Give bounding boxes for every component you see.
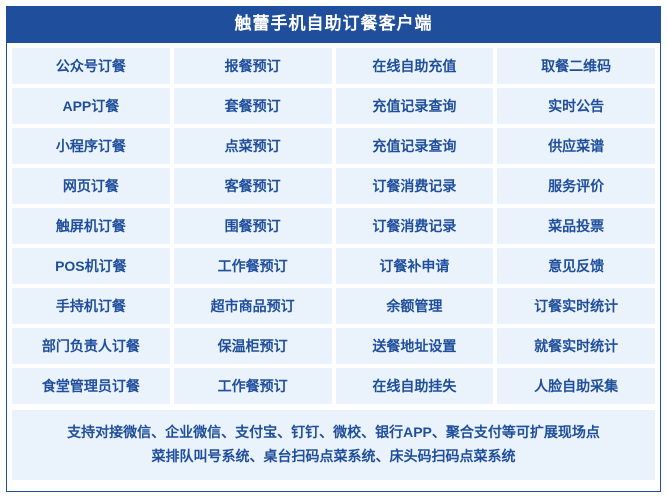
- feature-cell[interactable]: 触屏机订餐: [12, 208, 170, 244]
- feature-cell[interactable]: 部门负责人订餐: [12, 328, 170, 364]
- feature-cell[interactable]: 服务评价: [497, 168, 655, 204]
- feature-cell[interactable]: 食堂管理员订餐: [12, 368, 170, 404]
- feature-cell[interactable]: 保温柜预订: [174, 328, 332, 364]
- feature-cell[interactable]: 报餐预订: [174, 48, 332, 84]
- feature-cell[interactable]: 订餐补申请: [336, 248, 494, 284]
- page-title: 触蕾手机自助订餐客户端: [7, 7, 660, 43]
- feature-cell[interactable]: 手持机订餐: [12, 288, 170, 324]
- feature-cell[interactable]: 超市商品预订: [174, 288, 332, 324]
- feature-cell[interactable]: 意见反馈: [497, 248, 655, 284]
- feature-cell[interactable]: 在线自助充值: [336, 48, 494, 84]
- feature-cell[interactable]: APP订餐: [12, 88, 170, 124]
- feature-cell[interactable]: 订餐消费记录: [336, 168, 494, 204]
- feature-cell[interactable]: 人脸自助采集: [497, 368, 655, 404]
- feature-cell[interactable]: 订餐消费记录: [336, 208, 494, 244]
- feature-cell[interactable]: 公众号订餐: [12, 48, 170, 84]
- feature-cell[interactable]: POS机订餐: [12, 248, 170, 284]
- footer-note-line2: 菜排队叫号系统、桌台扫码点菜系统、床头码扫码点菜系统: [26, 444, 641, 468]
- feature-cell[interactable]: 客餐预订: [174, 168, 332, 204]
- feature-cell[interactable]: 工作餐预订: [174, 248, 332, 284]
- feature-grid: 公众号订餐 报餐预订 在线自助充值 取餐二维码 APP订餐 套餐预订 充值记录查…: [7, 43, 660, 409]
- feature-cell[interactable]: 实时公告: [497, 88, 655, 124]
- feature-cell[interactable]: 套餐预订: [174, 88, 332, 124]
- feature-cell[interactable]: 充值记录查询: [336, 88, 494, 124]
- feature-cell[interactable]: 工作餐预订: [174, 368, 332, 404]
- feature-cell[interactable]: 围餐预订: [174, 208, 332, 244]
- client-feature-panel: 触蕾手机自助订餐客户端 公众号订餐 报餐预订 在线自助充值 取餐二维码 APP订…: [6, 6, 661, 492]
- feature-cell[interactable]: 点菜预订: [174, 128, 332, 164]
- feature-cell[interactable]: 余额管理: [336, 288, 494, 324]
- feature-cell[interactable]: 就餐实时统计: [497, 328, 655, 364]
- feature-cell[interactable]: 充值记录查询: [336, 128, 494, 164]
- feature-cell[interactable]: 供应菜谱: [497, 128, 655, 164]
- feature-cell[interactable]: 订餐实时统计: [497, 288, 655, 324]
- feature-cell[interactable]: 网页订餐: [12, 168, 170, 204]
- diagram-root: 触蕾手机自助订餐客户端 公众号订餐 报餐预订 在线自助充值 取餐二维码 APP订…: [0, 0, 667, 498]
- footer-note: 支持对接微信、企业微信、支付宝、钉钉、微校、银行APP、聚合支付等可扩展现场点 …: [12, 410, 655, 480]
- feature-cell[interactable]: 小程序订餐: [12, 128, 170, 164]
- feature-cell[interactable]: 取餐二维码: [497, 48, 655, 84]
- feature-cell[interactable]: 在线自助挂失: [336, 368, 494, 404]
- footer-note-line1: 支持对接微信、企业微信、支付宝、钉钉、微校、银行APP、聚合支付等可扩展现场点: [26, 420, 641, 444]
- feature-cell[interactable]: 菜品投票: [497, 208, 655, 244]
- feature-cell[interactable]: 送餐地址设置: [336, 328, 494, 364]
